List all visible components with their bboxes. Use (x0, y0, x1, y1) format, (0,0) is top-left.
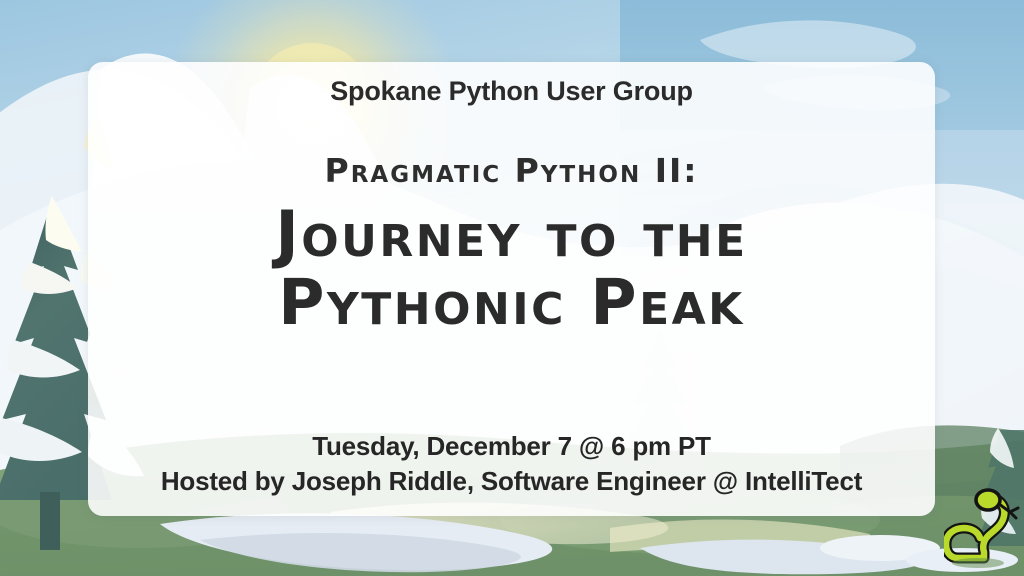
title-block: Pragmatic Python II: Journey to the Pyth… (88, 154, 935, 337)
event-host: Hosted by Joseph Riddle, Software Engine… (88, 464, 935, 498)
organization-name: Spokane Python User Group (88, 76, 935, 107)
content-card: Spokane Python User Group Pragmatic Pyth… (88, 62, 935, 516)
event-main-title: Journey to the Pythonic Peak (88, 201, 935, 337)
event-main-title-line2: Pythonic Peak (88, 269, 935, 337)
python-snake-mascot-icon (944, 484, 1020, 572)
event-series-title: Pragmatic Python II: (88, 154, 935, 187)
event-details: Tuesday, December 7 @ 6 pm PT Hosted by … (88, 429, 935, 498)
event-main-title-line1: Journey to the (275, 198, 747, 271)
event-flyer: Spokane Python User Group Pragmatic Pyth… (0, 0, 1024, 576)
event-datetime: Tuesday, December 7 @ 6 pm PT (88, 429, 935, 463)
